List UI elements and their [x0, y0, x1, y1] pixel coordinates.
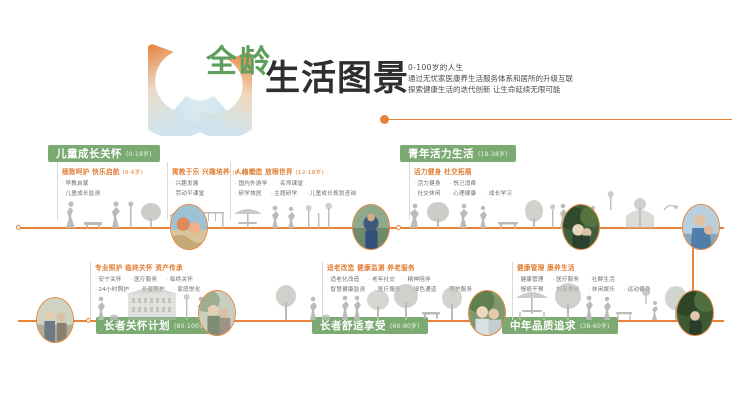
scene-middle-silhouette	[512, 280, 692, 320]
photo-child-play[interactable]	[170, 204, 208, 250]
group-item: 活力健身	[414, 179, 441, 187]
group-heading-text: 适老改造 健康监测 养老服务	[327, 264, 415, 272]
group-item: 悦己消费	[450, 179, 477, 187]
group-item: 劳动平课堂	[172, 189, 204, 197]
timeline-node-dot	[16, 225, 21, 230]
section-badge-youth[interactable]: 青年活力生活 (18-38岁)	[400, 145, 516, 162]
photo-elder-pair[interactable]	[198, 290, 236, 336]
badge-age: (38-60岁)	[580, 321, 610, 330]
badge-age: (60-80岁)	[390, 321, 420, 330]
badge-label: 中年品质追求	[510, 318, 576, 333]
section-badge-child[interactable]: 儿童成长关怀 (0-18岁)	[48, 145, 160, 162]
photo-youth-couple[interactable]	[562, 204, 600, 250]
header-subtitle: 0-100岁的人生 通过无忧家医康养生活服务体系和居所的升级互联 探索健康生活的…	[408, 62, 573, 95]
group-heading-text: 人格塑造 放眼世界	[235, 168, 293, 176]
group-heading-text: 健康管理 康养生活	[517, 264, 575, 272]
photo-youth-sport[interactable]	[682, 204, 720, 250]
group-heading-text: 寓教于乐 兴趣培养	[172, 168, 230, 176]
page-title-accent: 全龄	[206, 47, 272, 78]
group-child-2: 人格塑造 放眼世界 (12-18岁) 国内外游学 名师课堂 研学旅居 主题研学 …	[235, 166, 356, 197]
group-item: 安宁关怀	[95, 275, 122, 283]
group-item: 国内外游学	[235, 179, 267, 187]
group-heading: 人格塑造 放眼世界 (12-18岁)	[235, 166, 356, 176]
badge-age: (18-38岁)	[478, 149, 508, 158]
infographic-root: 全龄 生活图景 0-100岁的人生 通过无忧家医康养生活服务体系和居所的升级互联…	[0, 0, 740, 416]
header: 全龄 生活图景 0-100岁的人生 通过无忧家医康养生活服务体系和居所的升级互联…	[0, 0, 740, 132]
group-tick	[90, 262, 91, 320]
badge-label: 青年活力生活	[408, 146, 474, 161]
badge-label: 长者舒适享受	[320, 318, 386, 333]
group-heading: 健康管理 康养生活	[517, 262, 651, 272]
group-heading: 专业照护 临终关怀 资产传承	[95, 262, 201, 272]
group-heading-text: 活力健身 社交拓展	[414, 168, 472, 176]
subtitle-line-2: 通过无忧家医康养生活服务体系和居所的升级互联	[408, 73, 573, 84]
scene-youth-silhouette	[406, 196, 566, 228]
group-item: 早教启蒙	[62, 179, 89, 187]
group-item: 临终关怀	[166, 275, 193, 283]
group-item: 儿童成长监测	[62, 189, 100, 197]
group-heading: 活力健身 社交拓展	[414, 166, 512, 176]
badge-age: (0-18岁)	[126, 149, 152, 158]
group-item: 名师课堂	[276, 179, 303, 187]
group-heading-age: (0-6岁)	[122, 170, 143, 176]
header-rule	[388, 119, 732, 120]
photo-teen-study[interactable]	[352, 204, 390, 250]
group-item: 主题研学	[271, 189, 298, 197]
badge-label: 儿童成长关怀	[56, 146, 122, 161]
group-heading-age: (12-18岁)	[295, 170, 324, 176]
group-youth-0: 活力健身 社交拓展 活力健身 悦己消费 社交休闲 心理健康 成长学习	[414, 166, 512, 197]
photo-middle-pair[interactable]	[468, 290, 506, 336]
group-heading-text: 细致呵护 快乐启航	[62, 168, 120, 176]
group-heading-text: 专业照护 临终关怀 资产传承	[95, 264, 183, 272]
group-item: 兴趣发展	[172, 179, 199, 187]
scene-elder2-silhouette	[272, 282, 462, 320]
subtitle-line-3: 探索健康生活的迭代创新 让生命延续无限可能	[408, 84, 573, 95]
group-child-0: 细致呵护 快乐启航 (0-6岁) 早教启蒙 儿童成长监测	[62, 166, 143, 197]
photo-elder-walk[interactable]	[36, 297, 74, 343]
group-item: 研学旅居	[235, 189, 262, 197]
subtitle-line-1: 0-100岁的人生	[408, 62, 573, 73]
page-title: 生活图景	[265, 62, 409, 97]
photo-middle-park[interactable]	[676, 290, 714, 336]
group-heading: 适老改造 健康监测 养老服务	[327, 262, 472, 272]
scene-child-silhouette	[56, 198, 166, 228]
group-item: 儿童成长规划咨询	[306, 189, 356, 197]
group-item: 医疗服务	[131, 275, 158, 283]
group-heading: 细致呵护 快乐启航 (0-6岁)	[62, 166, 143, 176]
badge-label: 长者关怀计划	[104, 318, 170, 333]
timeline-node-dot	[396, 225, 401, 230]
